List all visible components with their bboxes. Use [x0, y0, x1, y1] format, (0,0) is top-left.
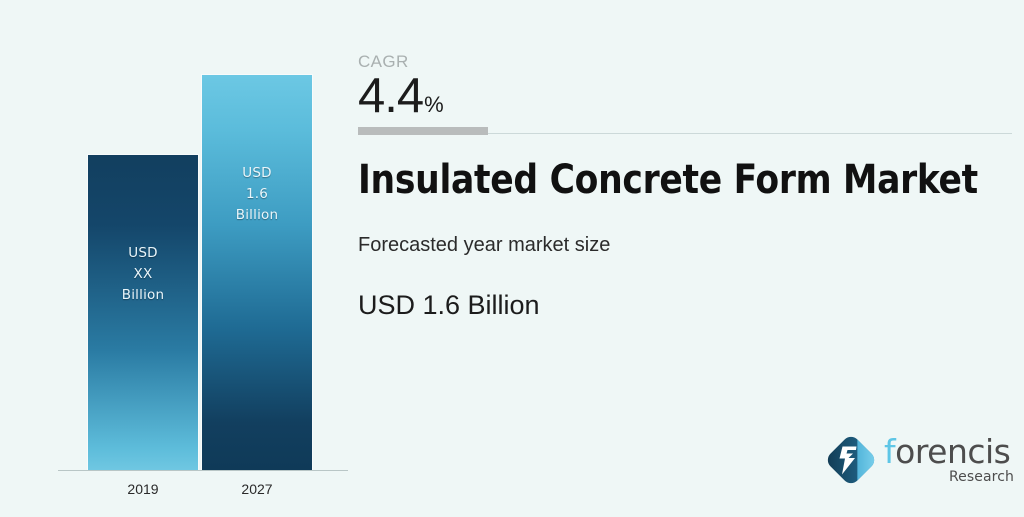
page-title: Insulated Concrete Form Market [358, 157, 978, 203]
bar-2027: USD 1.6 Billion [202, 75, 312, 470]
bar-2019-label: USD XX Billion [88, 243, 198, 306]
forecast-value: USD 1.6 Billion [358, 290, 540, 321]
brand-name-rest: orencis [895, 432, 1010, 471]
divider-accent-bar [358, 127, 488, 135]
cagr-number: 4.4 [358, 72, 423, 121]
x-axis-tick-2019: 2019 [88, 481, 198, 497]
forencis-diamond-icon [822, 431, 880, 489]
brand-lead-letter: f [884, 432, 895, 471]
cagr-percent-sign: % [424, 94, 444, 116]
bar-2019: USD XX Billion [88, 155, 198, 470]
chart-axis-line [58, 470, 348, 471]
forecast-caption: Forecasted year market size [358, 234, 610, 257]
x-axis-tick-2027: 2027 [202, 481, 312, 497]
brand-name: forencis [884, 435, 1014, 468]
bar-chart: USD XX Billion USD 1.6 Billion 2019 2027 [0, 0, 350, 517]
bar-2019-label-unit: Billion [88, 285, 198, 306]
cagr-value: 4.4 % [358, 72, 444, 121]
bar-2027-label: USD 1.6 Billion [202, 163, 312, 226]
forencis-research-logo: forencis Research [822, 427, 1014, 495]
bar-2019-label-currency: USD [88, 243, 198, 264]
brand-tagline: Research [884, 470, 1014, 484]
forencis-wordmark: forencis Research [884, 435, 1014, 484]
bar-2027-label-unit: Billion [202, 205, 312, 226]
bar-2019-label-amount: XX [88, 264, 198, 285]
bar-2027-label-currency: USD [202, 163, 312, 184]
bar-2027-label-amount: 1.6 [202, 184, 312, 205]
